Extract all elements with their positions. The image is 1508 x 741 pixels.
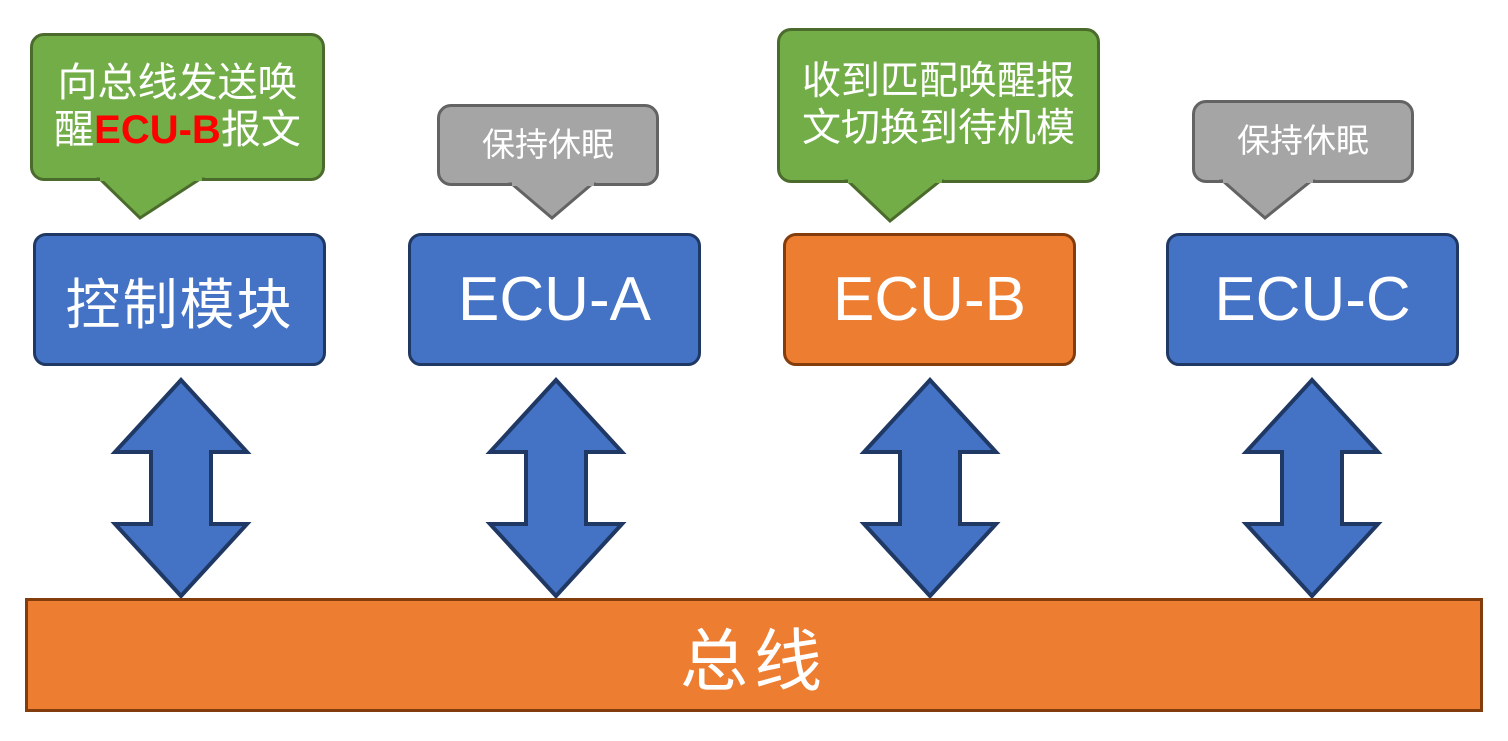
callout-control-module-line2-suffix: 报文 (221, 108, 301, 152)
callout-ecu-a-text: 保持休眠 (450, 126, 646, 165)
callout-control-module-highlight: ECU-B (94, 108, 221, 152)
bus-bar[interactable]: 总线 (25, 598, 1483, 712)
callout-ecu-a-tail (512, 181, 632, 225)
callout-control-module-line2-prefix: 醒 (54, 108, 94, 152)
callout-ecu-b-text: 收到匹配唤醒报 文切换到待机模 (790, 59, 1087, 151)
node-ecu-a-label: ECU-A (458, 264, 651, 335)
callout-ecu-c-text: 保持休眠 (1205, 122, 1401, 161)
callout-ecu-b-line1: 收到匹配唤醒报 (802, 60, 1075, 103)
callout-ecu-c-tail (1223, 178, 1353, 224)
bus-bar-label: 总线 (680, 606, 828, 705)
arrow-ecu-b (856, 376, 1004, 600)
callout-control-module-line1: 向总线发送唤 (58, 61, 298, 105)
node-ecu-b-label: ECU-B (833, 264, 1026, 335)
node-ecu-b[interactable]: ECU-B (783, 233, 1076, 366)
callout-control-module: 向总线发送唤 醒ECU-B报文 (30, 33, 325, 181)
callout-control-module-tail (100, 176, 240, 224)
node-ecu-a[interactable]: ECU-A (408, 233, 701, 366)
callout-control-module-text: 向总线发送唤 醒ECU-B报文 (43, 60, 312, 154)
callout-ecu-c: 保持休眠 (1192, 100, 1414, 183)
node-ecu-c-label: ECU-C (1214, 264, 1410, 335)
callout-ecu-b: 收到匹配唤醒报 文切换到待机模 (777, 28, 1100, 183)
node-ecu-c[interactable]: ECU-C (1166, 233, 1459, 366)
callout-ecu-a: 保持休眠 (437, 104, 659, 186)
node-control-module[interactable]: 控制模块 (33, 233, 326, 366)
arrow-control-module (107, 376, 255, 600)
arrow-ecu-a (482, 376, 630, 600)
node-control-module-label: 控制模块 (65, 260, 293, 340)
callout-ecu-b-line2: 文切换到待机模 (802, 107, 1075, 150)
arrow-ecu-c (1238, 376, 1386, 600)
diagram-canvas: 向总线发送唤 醒ECU-B报文 保持休眠 收到匹配唤醒报 文切换到待机模 保持休… (0, 0, 1508, 741)
callout-ecu-b-tail (848, 178, 988, 226)
